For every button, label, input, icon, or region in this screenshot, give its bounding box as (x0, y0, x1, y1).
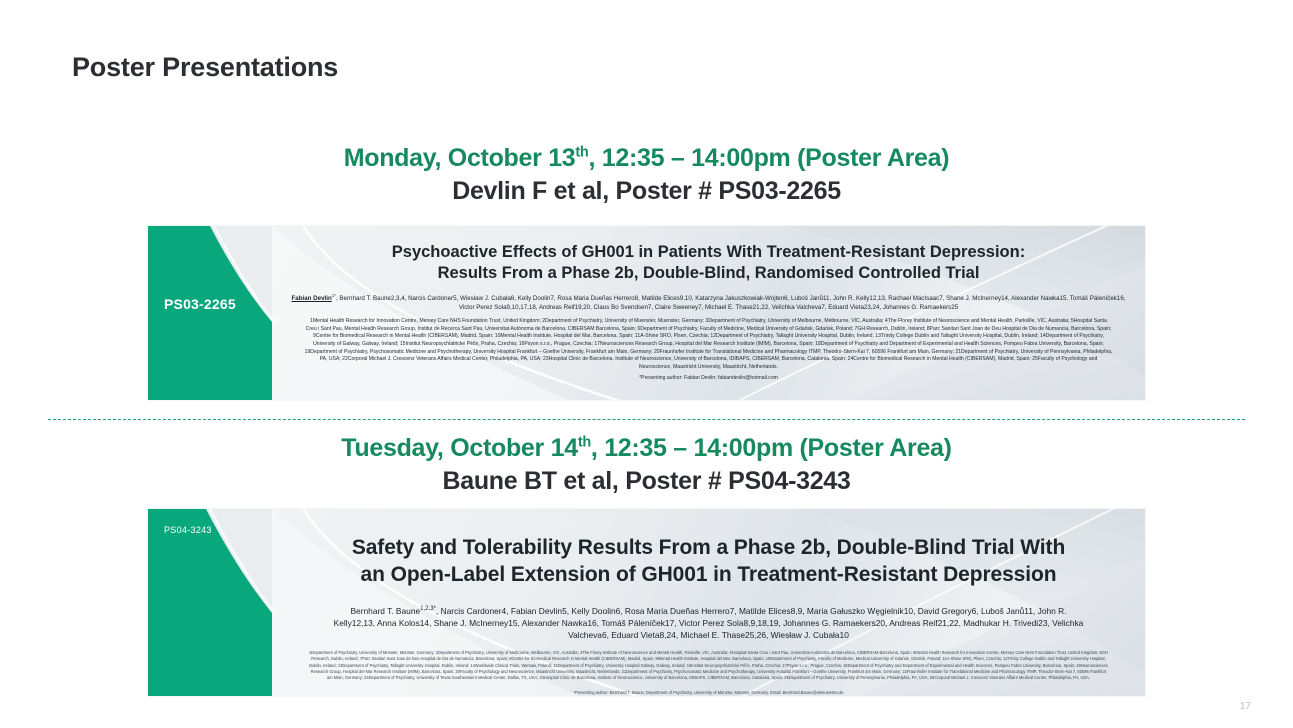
session-heading-tuesday: Tuesday, October 14th, 12:35 – 14:00pm (… (0, 434, 1293, 496)
poster-title-line2-2: an Open-Label Extension of GH001 in Trea… (298, 562, 1119, 589)
poster-presenting-note-2: *Presenting author: Bernhard T. Baune, D… (272, 690, 1145, 695)
section-divider (48, 419, 1245, 420)
poster-presenting-note-1: *Presenting author: Fabian Devlin; fabia… (272, 375, 1145, 381)
session-time-tuesday: , 12:35 – 14:00pm (Poster Area) (591, 434, 952, 462)
slide-canvas: Poster Presentations Monday, October 13t… (0, 0, 1293, 728)
band-curve-1 (148, 226, 272, 400)
poster-title-line1-2: Safety and Tolerability Results From a P… (298, 535, 1119, 562)
poster-title-2: Safety and Tolerability Results From a P… (272, 535, 1145, 589)
session-citation-tuesday: Baune BT et al, Poster # PS04-3243 (0, 467, 1293, 496)
band-curve-2 (148, 509, 272, 696)
poster-authors-rest-2: , Narcis Cardoner4, Fabian Devlin5, Kell… (334, 606, 1084, 640)
poster-lead-author-1: Fabian Devlin (292, 295, 332, 302)
poster-title-line2-1: Results From a Phase 2b, Double-Blind, R… (298, 263, 1119, 284)
poster-thumbnail-ps03-2265[interactable]: PS03-2265 Psychoactive Effects of GH001 … (148, 226, 1145, 400)
poster-affiliations-1: 1Mental Health Research for Innovation C… (272, 318, 1145, 371)
poster-content-1: Psychoactive Effects of GH001 in Patient… (272, 226, 1145, 400)
session-day-monday: Monday, October 13 (344, 144, 576, 172)
poster-id-band-2: PS04-3243 (148, 509, 272, 696)
ordinal-suffix-monday: th (575, 145, 588, 161)
session-heading-monday: Monday, October 13th, 12:35 – 14:00pm (P… (0, 144, 1293, 206)
session-datetime-monday: Monday, October 13th, 12:35 – 14:00pm (P… (0, 144, 1293, 173)
session-day-tuesday: Tuesday, October 14 (341, 434, 578, 462)
poster-id-label-1: PS03-2265 (164, 296, 236, 312)
poster-id-label-2: PS04-3243 (164, 525, 212, 535)
poster-affiliations-2: 1Department of Psychiatry, University of… (272, 650, 1145, 681)
page-title: Poster Presentations (72, 52, 338, 83)
poster-authors-1: Fabian Devlin1*, Bernhard T. Baune2,3,4,… (272, 295, 1145, 313)
session-citation-monday: Devlin F et al, Poster # PS03-2265 (0, 177, 1293, 206)
session-time-monday: , 12:35 – 14:00pm (Poster Area) (589, 144, 950, 172)
poster-authors-rest-1: , Bernhard T. Baune2,3,4, Narcis Cardone… (336, 295, 1126, 311)
poster-lead-author-2: Bernhard T. Baune (350, 606, 420, 616)
session-datetime-tuesday: Tuesday, October 14th, 12:35 – 14:00pm (… (0, 434, 1293, 463)
ordinal-suffix-tuesday: th (578, 435, 591, 451)
poster-lead-author-sup-2: 1,2,3* (420, 606, 436, 612)
poster-title-1: Psychoactive Effects of GH001 in Patient… (272, 242, 1145, 284)
page-number: 17 (1240, 701, 1251, 712)
poster-authors-2: Bernhard T. Baune1,2,3*, Narcis Cardoner… (272, 605, 1145, 642)
poster-content-2: Safety and Tolerability Results From a P… (272, 509, 1145, 696)
poster-title-line1-1: Psychoactive Effects of GH001 in Patient… (298, 242, 1119, 263)
poster-id-band-1: PS03-2265 (148, 226, 272, 400)
poster-thumbnail-ps04-3243[interactable]: PS04-3243 Safety and Tolerability Result… (148, 509, 1145, 696)
